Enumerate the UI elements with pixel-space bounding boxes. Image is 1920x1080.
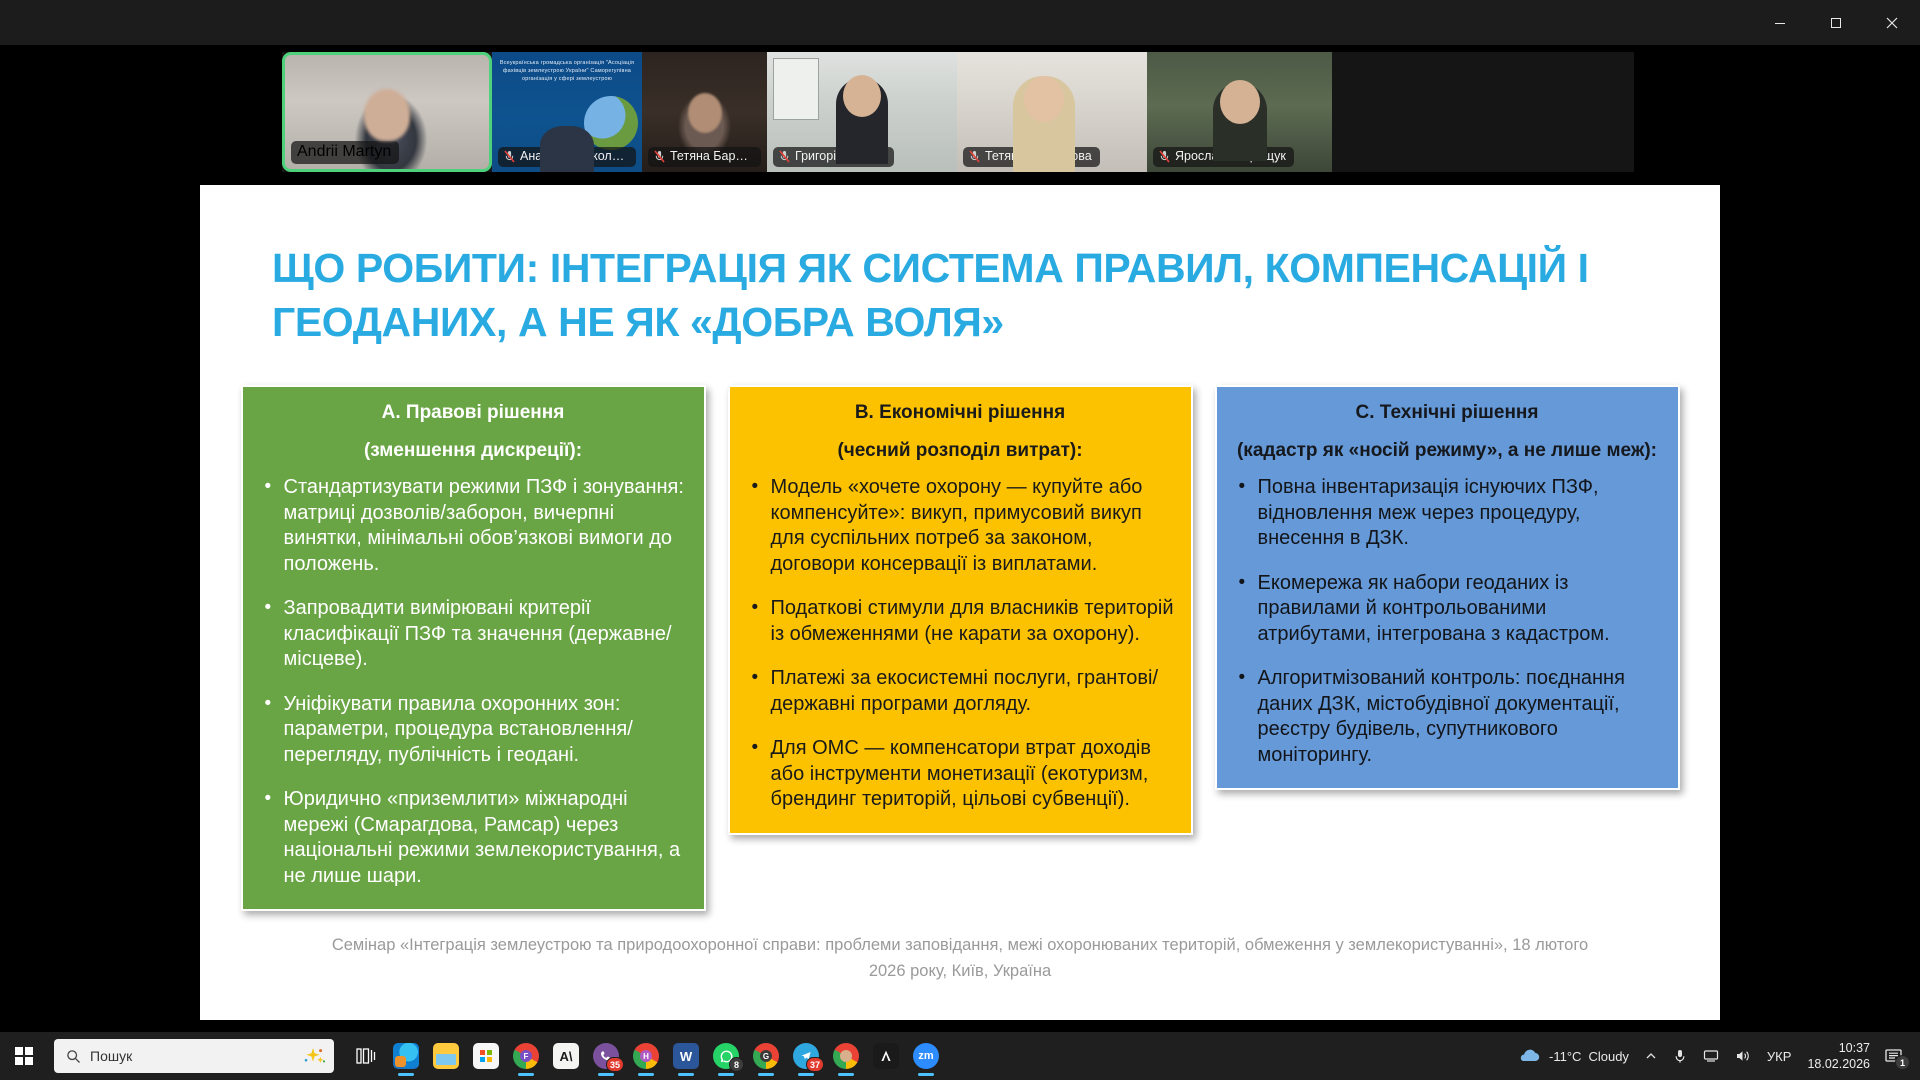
shared-logo-caption: Всеукраїнська громадська організація "Ас…	[492, 59, 642, 83]
chrome-icon	[833, 1043, 859, 1069]
microsoft-store-button[interactable]	[466, 1034, 506, 1078]
profile-initial: F	[520, 1050, 532, 1062]
volume-button[interactable]	[1727, 1036, 1759, 1076]
whatsapp-button[interactable]: 8	[706, 1034, 746, 1078]
participant-tile-2[interactable]: Тетяна Баранова	[642, 52, 767, 172]
participant-name: Тетяна Баранова	[670, 149, 753, 164]
participant-name: Григорій Шарий	[795, 149, 886, 164]
microphone-status-button[interactable]	[1665, 1036, 1695, 1076]
microsoft-word-button[interactable]: W	[666, 1034, 706, 1078]
close-button[interactable]	[1864, 0, 1920, 45]
participant-face	[1220, 80, 1260, 124]
solution-columns: А. Правові рішення (зменшення дискреції)…	[200, 385, 1720, 911]
slide-footer: Семінар «Інтеграція землеустрою та приро…	[320, 932, 1600, 984]
clock[interactable]: 10:37 18.02.2026	[1799, 1040, 1878, 1072]
column-subheading: (чесний розподіл витрат):	[744, 438, 1177, 475]
notification-badge: 35	[606, 1057, 624, 1072]
column-technical-solutions: С. Технічні рішення (кадастр як «носій р…	[1215, 385, 1680, 790]
viber-button[interactable]: 35	[586, 1034, 626, 1078]
organization-logo-icon	[584, 96, 638, 150]
copilot-icon[interactable]	[300, 1046, 326, 1066]
running-indicator	[718, 1073, 734, 1076]
search-placeholder: Пошук	[90, 1048, 291, 1064]
participant-label: Andrii Martyn	[291, 141, 399, 164]
store-bag-icon	[473, 1043, 499, 1069]
participant-tile-1[interactable]: Всеукраїнська громадська організація "Ас…	[492, 52, 642, 172]
show-hidden-icons-button[interactable]	[1637, 1036, 1665, 1076]
window-title-bar	[0, 0, 1920, 45]
telegram-button[interactable]: 37	[786, 1034, 826, 1078]
network-status-button[interactable]	[1695, 1036, 1727, 1076]
chrome-icon: G	[753, 1043, 779, 1069]
column-bullet-list: Модель «хочете охорону — купуйте або ком…	[744, 475, 1177, 813]
participant-name: Анатолій Миколайович Полтав…	[520, 149, 628, 164]
acrobat-icon	[873, 1043, 899, 1069]
mic-muted-icon	[779, 150, 790, 163]
file-explorer-button[interactable]	[426, 1034, 466, 1078]
participant-face	[843, 75, 881, 117]
claude-icon: A\	[553, 1043, 579, 1069]
chrome-profile-h-button[interactable]: H	[626, 1034, 666, 1078]
bullet-item: Стандартизувати режими ПЗФ і зонування: …	[257, 475, 690, 577]
notification-count: 1	[1895, 1055, 1910, 1070]
adobe-acrobat-button[interactable]	[866, 1034, 906, 1078]
maximize-icon	[1830, 17, 1842, 29]
running-indicator	[918, 1073, 934, 1076]
chrome-icon: H	[633, 1043, 659, 1069]
participant-filmstrip: Andrii Martyn Всеукраїнська громадська о…	[282, 52, 1634, 172]
participant-name: Andrii Martyn	[297, 143, 391, 161]
participant-label: Анатолій Миколайович Полтав…	[498, 147, 636, 167]
chrome-profile-f-button[interactable]: F	[506, 1034, 546, 1078]
profile-initial: G	[760, 1050, 772, 1062]
participant-tile-4[interactable]: Тетяна Білогурова	[957, 52, 1147, 172]
running-indicator	[638, 1073, 654, 1076]
mic-muted-icon	[504, 150, 515, 163]
viber-icon: 35	[593, 1043, 619, 1069]
running-indicator	[838, 1073, 854, 1076]
microphone-icon	[1673, 1048, 1687, 1064]
telegram-icon: 37	[793, 1043, 819, 1069]
windows-logo-icon	[15, 1047, 33, 1065]
chrome-profile-g-button[interactable]: G	[746, 1034, 786, 1078]
participant-name: Тетяна Білогурова	[985, 149, 1092, 164]
task-view-button[interactable]	[346, 1034, 386, 1078]
column-bullet-list: Стандартизувати режими ПЗФ і зонування: …	[257, 475, 690, 889]
column-bullet-list: Повна інвентаризація існуючих ПЗФ, відно…	[1231, 475, 1664, 768]
running-indicator	[518, 1073, 534, 1076]
volume-icon	[1735, 1049, 1751, 1063]
task-view-icon	[355, 1046, 377, 1066]
running-indicator	[678, 1073, 694, 1076]
minimize-icon	[1774, 17, 1786, 29]
column-heading: А. Правові рішення	[257, 400, 690, 438]
bullet-item: Алгоритмізований контроль: поєднання дан…	[1231, 666, 1664, 768]
zoom-button[interactable]: zm	[906, 1034, 946, 1078]
participant-name: Ярослав Петращук	[1175, 149, 1286, 164]
column-heading: В. Економічні рішення	[744, 400, 1177, 438]
participant-label: Тетяна Білогурова	[963, 147, 1100, 167]
minimize-button[interactable]	[1752, 0, 1808, 45]
column-legal-solutions: А. Правові рішення (зменшення дискреції)…	[241, 385, 706, 911]
column-subheading: (кадастр як «носій режиму», а не лише ме…	[1231, 438, 1664, 475]
language-indicator[interactable]: УКР	[1759, 1036, 1800, 1076]
mic-muted-icon	[969, 150, 980, 163]
weather-temperature: -11°C	[1549, 1049, 1581, 1064]
running-indicator	[758, 1073, 774, 1076]
bullet-item: Юридично «приземлити» міжнародні мережі …	[257, 787, 690, 889]
window-controls	[1752, 0, 1920, 45]
close-icon	[1886, 17, 1898, 29]
bullet-item: Модель «хочете охорону — купуйте або ком…	[744, 475, 1177, 577]
start-button[interactable]	[0, 1032, 48, 1080]
profile-avatar	[840, 1050, 852, 1062]
clock-date: 18.02.2026	[1807, 1056, 1870, 1072]
system-tray: -11°C Cloudy	[1508, 1032, 1920, 1080]
word-icon: W	[673, 1043, 699, 1069]
bullet-item: Податкові стимули для власників територі…	[744, 596, 1177, 647]
running-indicator	[398, 1073, 414, 1076]
running-indicator	[598, 1073, 614, 1076]
microsoft-edge-icon	[393, 1043, 419, 1069]
clock-time: 10:37	[1807, 1040, 1870, 1056]
notification-badge: 8	[729, 1057, 744, 1072]
microsoft-edge-button[interactable]	[386, 1034, 426, 1078]
cloud-icon	[1516, 1047, 1542, 1065]
participant-tile-0[interactable]: Andrii Martyn	[282, 52, 492, 172]
profile-initial: H	[640, 1050, 652, 1062]
participant-label: Григорій Шарий	[773, 147, 894, 167]
zoom-icon: zm	[913, 1043, 939, 1069]
windows-taskbar: Пошук	[0, 1032, 1920, 1080]
chrome-icon: F	[513, 1043, 539, 1069]
taskbar-app-icons: F A\ 35 H W 8	[346, 1034, 946, 1078]
bullet-item: Платежі за екосистемні послуги, грантові…	[744, 666, 1177, 717]
weather-widget[interactable]: -11°C Cloudy	[1508, 1036, 1637, 1076]
bullet-item: Для ОМС — компенсатори втрат доходів або…	[744, 736, 1177, 813]
column-heading: С. Технічні рішення	[1231, 400, 1664, 438]
chevron-up-icon	[1645, 1050, 1657, 1062]
whatsapp-icon: 8	[713, 1043, 739, 1069]
participant-label: Тетяна Баранова	[648, 147, 761, 167]
column-subheading: (зменшення дискреції):	[257, 438, 690, 475]
mic-muted-icon	[1159, 150, 1170, 163]
slide-title: ЩО РОБИТИ: ІНТЕГРАЦІЯ ЯК СИСТЕМА ПРАВИЛ,…	[272, 241, 1660, 349]
presentation-slide: ЩО РОБИТИ: ІНТЕГРАЦІЯ ЯК СИСТЕМА ПРАВИЛ,…	[200, 185, 1720, 1020]
participant-face	[1024, 76, 1064, 122]
running-indicator	[798, 1073, 814, 1076]
folder-icon	[433, 1043, 459, 1069]
column-economic-solutions: В. Економічні рішення (чесний розподіл в…	[728, 385, 1193, 835]
mic-muted-icon	[654, 150, 665, 163]
maximize-button[interactable]	[1808, 0, 1864, 45]
background-map-decoration	[773, 58, 819, 120]
participant-tile-5[interactable]: Ярослав Петращук	[1147, 52, 1332, 172]
bullet-item: Екомережа як набори геоданих із правилам…	[1231, 571, 1664, 648]
search-icon	[66, 1049, 81, 1064]
claude-ai-button[interactable]: A\	[546, 1034, 586, 1078]
network-icon	[1703, 1049, 1719, 1063]
bullet-item: Уніфікувати правила охоронних зон: парам…	[257, 692, 690, 769]
notification-badge: 37	[806, 1057, 824, 1072]
weather-condition: Cloudy	[1588, 1049, 1628, 1064]
chrome-profile-avatar-button[interactable]	[826, 1034, 866, 1078]
participant-tile-3[interactable]: Григорій Шарий	[767, 52, 957, 172]
bullet-item: Запровадити вимірювані критерії класифік…	[257, 596, 690, 673]
participant-label: Ярослав Петращук	[1153, 147, 1294, 167]
search-input[interactable]: Пошук	[54, 1039, 334, 1073]
notification-center-button[interactable]: 1	[1878, 1036, 1914, 1076]
bullet-item: Повна інвентаризація існуючих ПЗФ, відно…	[1231, 475, 1664, 552]
